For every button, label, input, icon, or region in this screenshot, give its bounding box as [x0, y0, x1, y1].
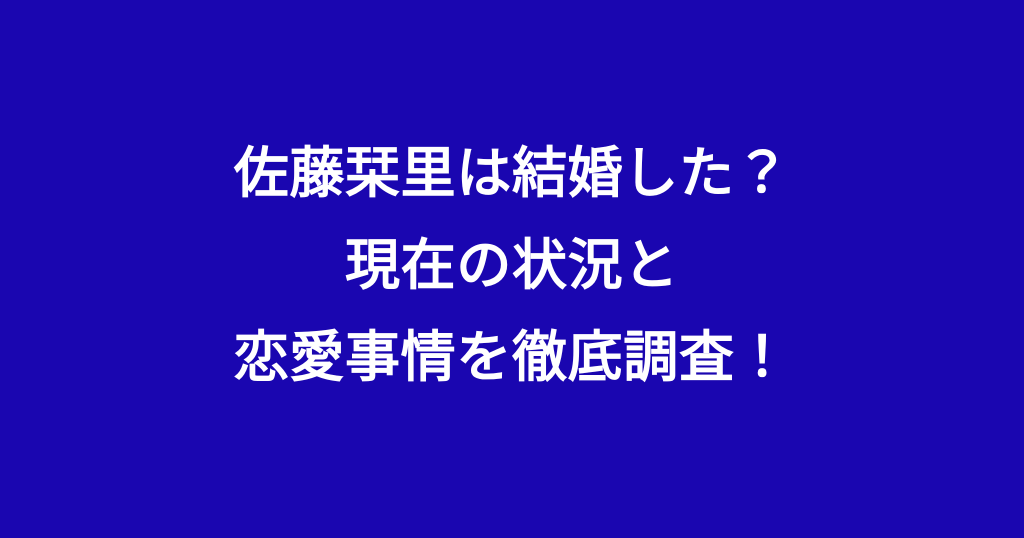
- thumbnail-card: 佐藤栞里は結婚した？ 現在の状況と 恋愛事情を徹底調査！: [0, 0, 1024, 538]
- title-line-2: 現在の状況と: [0, 219, 1024, 311]
- title-line-1: 佐藤栞里は結婚した？: [0, 127, 1024, 219]
- title-line-3: 恋愛事情を徹底調査！: [0, 311, 1024, 403]
- title-block: 佐藤栞里は結婚した？ 現在の状況と 恋愛事情を徹底調査！: [0, 127, 1024, 403]
